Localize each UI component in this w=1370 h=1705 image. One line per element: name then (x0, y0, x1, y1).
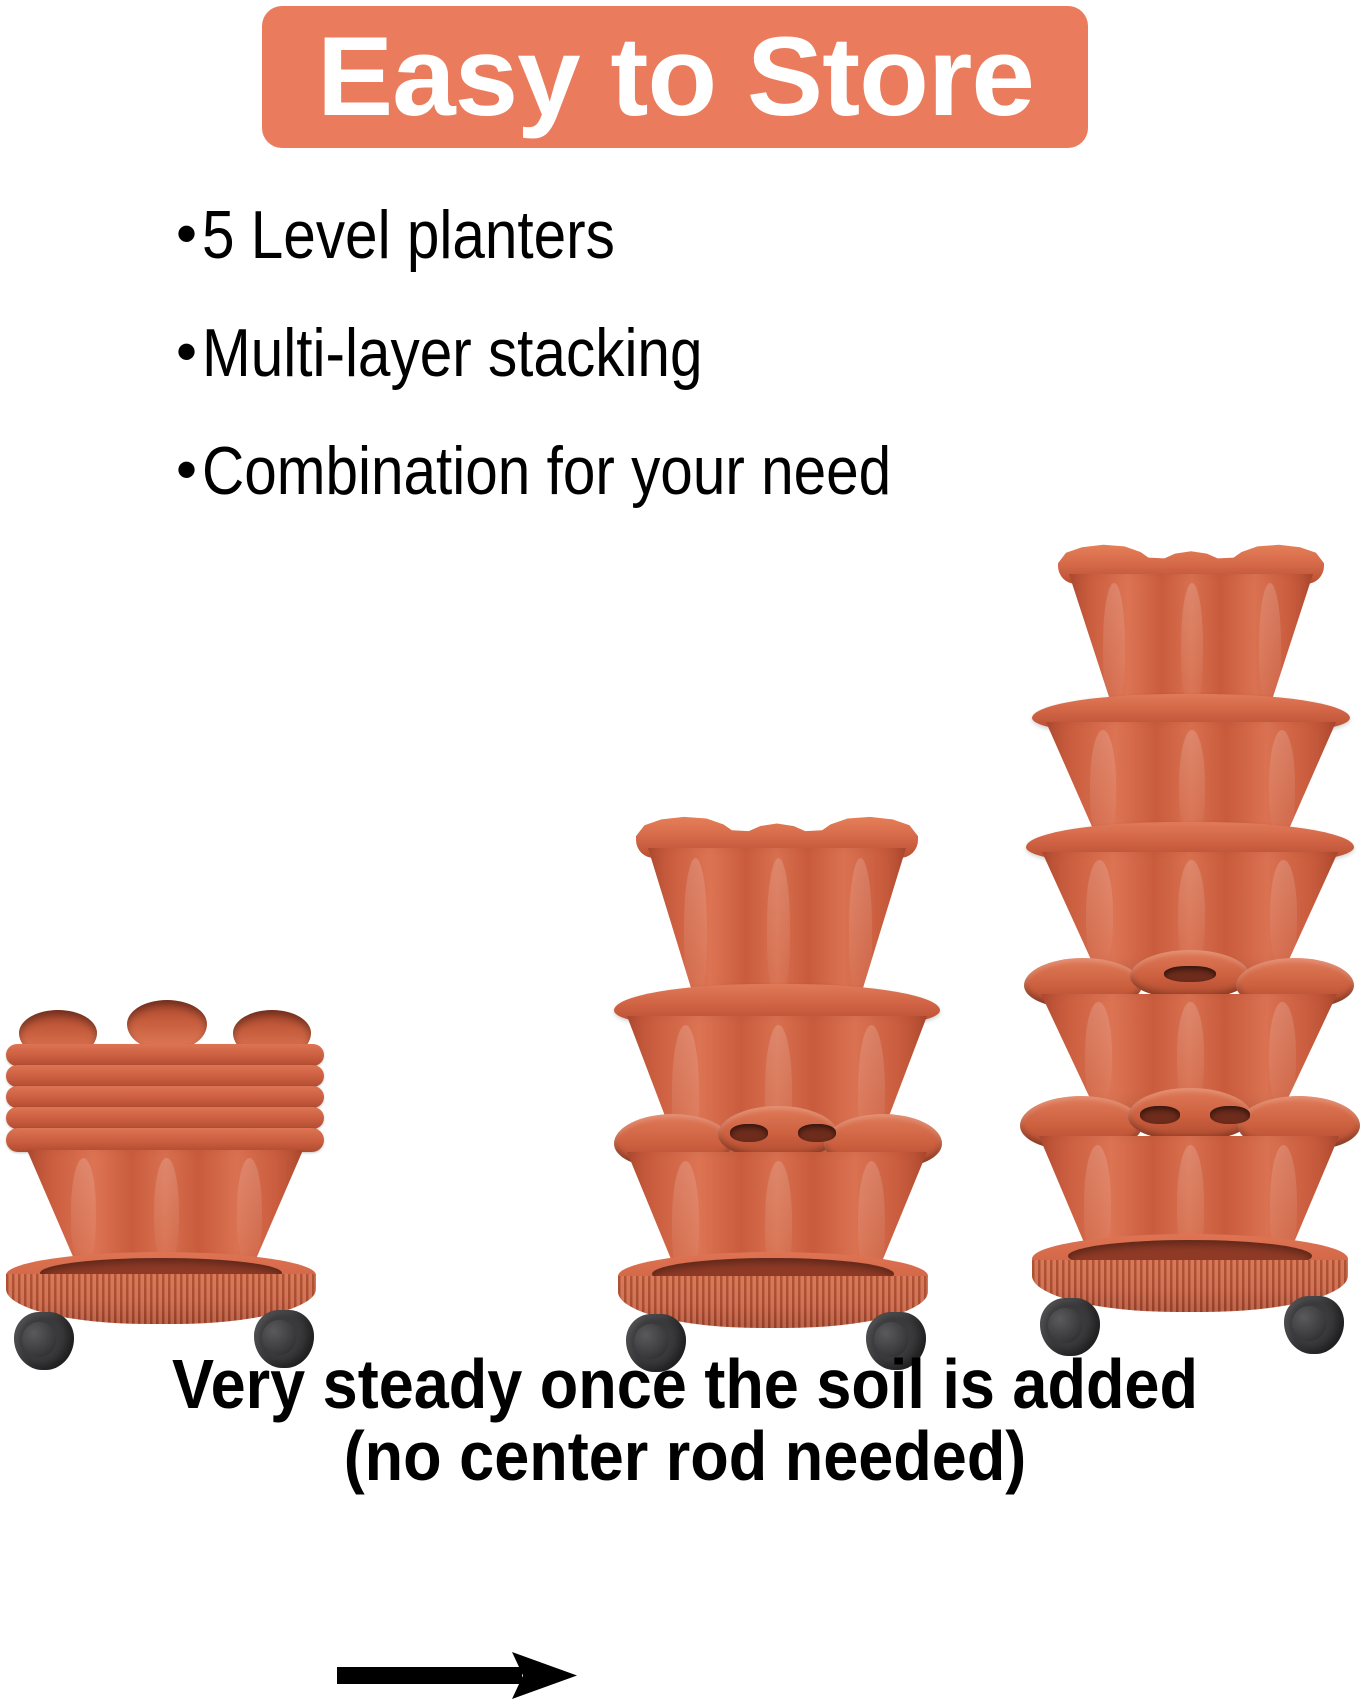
wheeled-caddy (6, 1252, 316, 1344)
pocket-opening (730, 1124, 768, 1142)
planter-group-five-tier-stack (1018, 544, 1360, 1350)
caster-wheel-right (1284, 1296, 1344, 1354)
product-illustration (0, 520, 1370, 1350)
list-item: • Multi-layer stacking (176, 316, 1236, 390)
pocket-opening (1210, 1106, 1250, 1124)
bullet-icon: • (176, 322, 202, 382)
nested-rim (6, 1128, 324, 1152)
wheeled-caddy (1032, 1234, 1348, 1332)
cup-lobe (127, 1000, 207, 1050)
caption-line-1: Very steady once the soil is added (69, 1348, 1302, 1420)
planter-group-three-tier-stack (612, 816, 942, 1350)
pocket-opening (798, 1124, 836, 1142)
header-banner: Easy to Store (262, 6, 1088, 148)
pocket-opening (1140, 1106, 1180, 1124)
nested-rim (6, 1107, 324, 1129)
right-arrow-icon (337, 1647, 577, 1705)
list-item: • 5 Level planters (176, 198, 1236, 272)
pocket-opening (1164, 966, 1216, 982)
planter-group-nested-flat-stack (0, 1000, 330, 1350)
caption-line-2: (no center rod needed) (69, 1420, 1302, 1492)
bullet-icon: • (176, 440, 202, 500)
bottom-caption: Very steady once the soil is added (no c… (0, 1348, 1370, 1492)
feature-list: • 5 Level planters • Multi-layer stackin… (176, 198, 1236, 552)
wheeled-caddy (618, 1252, 928, 1348)
page-title: Easy to Store (317, 21, 1034, 133)
nested-rim (6, 1086, 324, 1108)
nested-rim-stack (6, 1044, 324, 1164)
nested-rim (6, 1044, 324, 1066)
nested-rim (6, 1065, 324, 1087)
feature-label-2: Multi-layer stacking (202, 316, 702, 390)
bullet-icon: • (176, 204, 202, 264)
feature-label-3: Combination for your need (202, 434, 891, 508)
list-item: • Combination for your need (176, 434, 1236, 508)
feature-label-1: 5 Level planters (202, 198, 615, 272)
